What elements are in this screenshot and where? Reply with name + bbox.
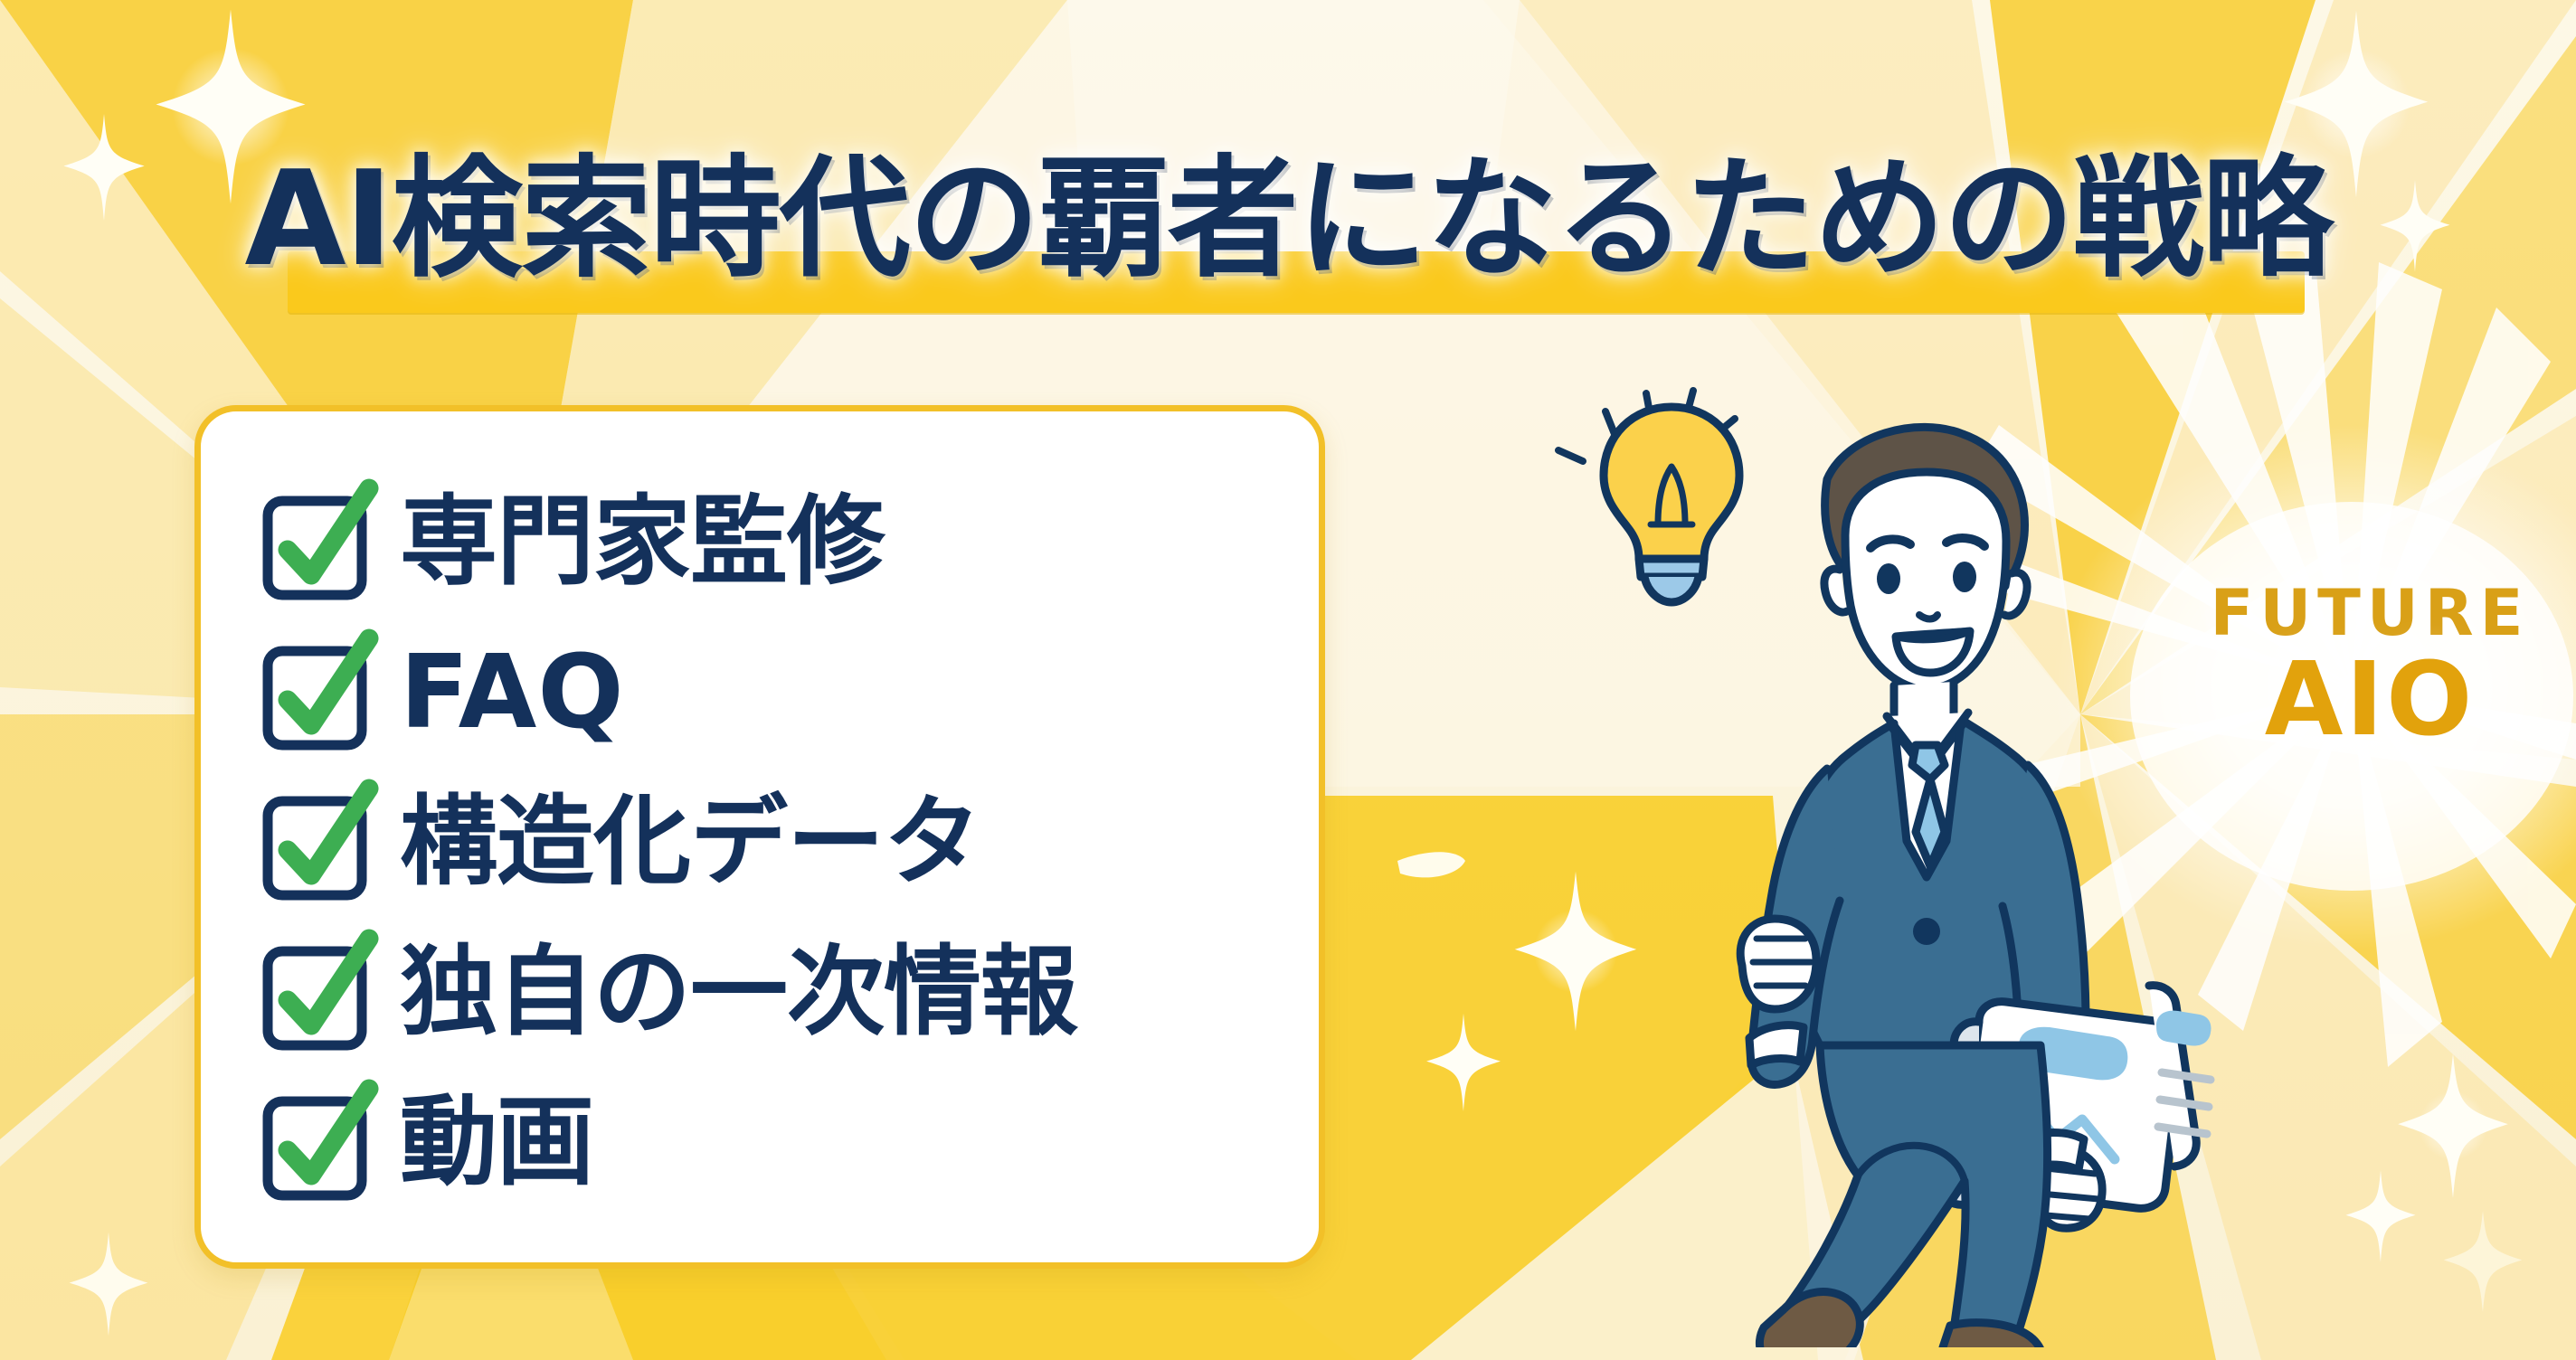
brand-logo-line2: AIO bbox=[2180, 647, 2560, 752]
banner-canvas: AI検索時代の覇者になるための戦略 専門家監修 FAQ bbox=[0, 0, 2576, 1360]
checkbox-checked-icon[interactable] bbox=[264, 1091, 369, 1195]
page-title: AI検索時代の覇者になるための戦略 bbox=[0, 136, 2576, 303]
lightbulb-icon bbox=[1558, 391, 1739, 602]
list-item[interactable]: 専門家監修 bbox=[264, 467, 1319, 618]
brand-logo-line1: FUTURE bbox=[2180, 579, 2560, 647]
checkbox-checked-icon[interactable] bbox=[264, 640, 369, 745]
checklist-card: 専門家監修 FAQ 構造化データ bbox=[194, 405, 1325, 1269]
list-item[interactable]: 動画 bbox=[264, 1068, 1319, 1218]
banner-title-block: AI検索時代の覇者になるための戦略 bbox=[0, 136, 2576, 307]
checkbox-checked-icon[interactable] bbox=[264, 790, 369, 895]
list-item[interactable]: 構造化データ bbox=[264, 768, 1319, 918]
list-item-label: 構造化データ bbox=[400, 790, 980, 895]
brand-logo: FUTURE AIO bbox=[2180, 579, 2560, 752]
checkbox-checked-icon[interactable] bbox=[264, 490, 369, 595]
list-item-label: FAQ bbox=[400, 640, 625, 745]
list-item-label: 動画 bbox=[400, 1091, 593, 1195]
checkbox-checked-icon[interactable] bbox=[264, 940, 369, 1045]
list-item[interactable]: 独自の一次情報 bbox=[264, 918, 1319, 1068]
list-item-label: 専門家監修 bbox=[400, 490, 884, 595]
list-item-label: 独自の一次情報 bbox=[400, 940, 1077, 1045]
businessman-illustration bbox=[1529, 298, 2234, 1347]
list-item[interactable]: FAQ bbox=[264, 618, 1319, 768]
